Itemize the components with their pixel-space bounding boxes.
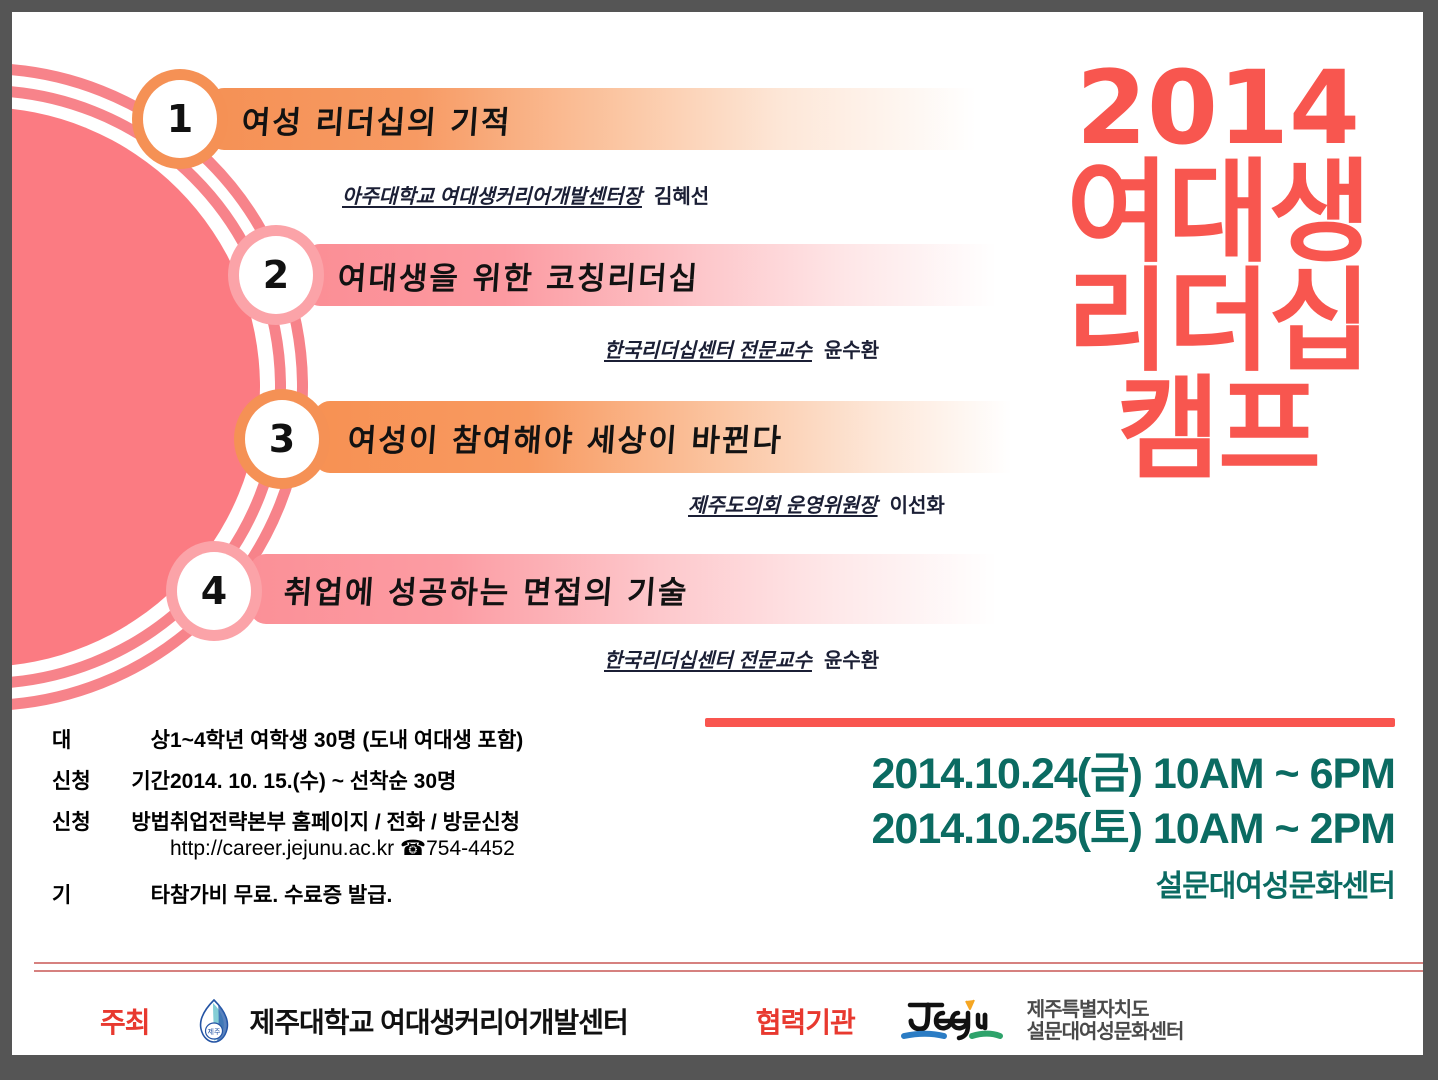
session-title-bar: 여성 리더십의 기적	[208, 88, 1008, 150]
session-title: 취업에 성공하는 면접의 기술	[248, 567, 690, 612]
info-row: 신청 방법 취업전략본부 홈페이지 / 전화 / 방문신청 http://car…	[52, 806, 692, 861]
session-speaker-name: 윤수환	[824, 650, 879, 672]
jejunu-logo-icon: 제주	[192, 997, 236, 1045]
footer: 주최 제주 제주대학교 여대생커리어개발센터 협력기관	[12, 990, 1423, 1052]
session-number-badge: 3	[245, 400, 319, 478]
poster-canvas: 2014 여대생 리더십 캠프 여성 리더십의 기적 1 아주대학교 여대생커리…	[0, 0, 1438, 1080]
session-speaker: 아주대학교 여대생커리어개발센터장김혜선	[342, 180, 709, 209]
session-title-bar: 취업에 성공하는 면접의 기술	[250, 554, 1020, 624]
info-value: 1~4학년 여학생 30명 (도내 여대생 포함)	[170, 724, 523, 754]
info-value: 참가비 무료. 수료증 발급.	[170, 879, 392, 909]
info-value: 취업전략본부 홈페이지 / 전화 / 방문신청 http://career.je…	[170, 806, 520, 861]
info-value-contact: http://career.jejunu.ac.kr ☎754-4452	[170, 836, 520, 861]
info-label-part-b: 기간	[131, 765, 170, 795]
info-label-part-b: 방법	[131, 806, 170, 861]
session-affiliation: 아주대학교 여대생커리어개발센터장	[342, 186, 642, 208]
info-label-part-b: 타	[151, 879, 170, 909]
info-value: 2014. 10. 15.(수) ~ 선착순 30명	[170, 765, 456, 795]
session-title: 여성 리더십의 기적	[206, 97, 513, 142]
footer-divider-bottom	[34, 970, 1423, 972]
session-speaker-name: 이선화	[890, 495, 945, 517]
footer-divider-top	[34, 962, 1423, 964]
session-affiliation: 한국리더십센터 전문교수	[604, 650, 812, 672]
title-line-2: 리더십	[1023, 268, 1413, 377]
session-title-bar: 여대생을 위한 코칭리더십	[304, 244, 1018, 306]
session-number-badge: 1	[143, 80, 217, 158]
svg-text:제주: 제주	[207, 1028, 220, 1036]
host-tag: 주최	[100, 1001, 150, 1041]
info-block: 대 상 1~4학년 여학생 30명 (도내 여대생 포함) 신청 기간 2014…	[52, 724, 692, 920]
session-title-bar: 여성이 참여해야 세상이 바뀐다	[314, 401, 1026, 473]
session-number-badge: 2	[239, 236, 313, 314]
schedule-day-1: 2014.10.24(금) 10AM ~ 6PM	[705, 747, 1395, 802]
title-line-1: 여대생	[1023, 159, 1413, 268]
session-number-badge: 4	[177, 552, 251, 630]
partner-name-top: 제주특별자치도	[1027, 999, 1184, 1021]
title-line-3: 캠프	[1023, 376, 1413, 485]
host-name: 제주대학교 여대생커리어개발센터	[250, 1001, 628, 1041]
venue-name: 설문대여성문화센터	[705, 861, 1395, 905]
page-title: 2014 여대생 리더십 캠프	[1023, 60, 1413, 485]
session-title: 여대생을 위한 코칭리더십	[302, 253, 700, 298]
info-row: 대 상 1~4학년 여학생 30명 (도내 여대생 포함)	[52, 724, 692, 754]
info-label-part-a: 기	[52, 879, 71, 909]
info-row: 기 타 참가비 무료. 수료증 발급.	[52, 879, 692, 909]
info-value-main: 취업전략본부 홈페이지 / 전화 / 방문신청	[170, 811, 520, 834]
session-title: 여성이 참여해야 세상이 바뀐다	[312, 415, 784, 460]
jeju-brand-logo-icon	[893, 995, 1013, 1047]
session-affiliation: 한국리더십센터 전문교수	[604, 340, 812, 362]
info-label: 신청 기간	[52, 765, 170, 795]
title-year: 2014	[1023, 60, 1413, 159]
info-label: 대 상	[52, 724, 170, 754]
info-label-part-a: 신청	[52, 765, 91, 795]
info-row: 신청 기간 2014. 10. 15.(수) ~ 선착순 30명	[52, 765, 692, 795]
session-speaker-name: 윤수환	[824, 340, 879, 362]
session-speaker-name: 김혜선	[654, 186, 709, 208]
session-list: 여성 리더십의 기적 1 아주대학교 여대생커리어개발센터장김혜선 여대생을 위…	[12, 12, 1022, 692]
schedule-divider	[705, 718, 1395, 727]
session-speaker: 제주도의회 운영위원장이선화	[688, 489, 945, 518]
info-label-part-b: 상	[151, 724, 170, 754]
session-speaker: 한국리더십센터 전문교수윤수환	[604, 644, 879, 673]
partner-tag: 협력기관	[756, 1001, 855, 1041]
schedule-block: 2014.10.24(금) 10AM ~ 6PM 2014.10.25(토) 1…	[705, 718, 1395, 905]
session-affiliation: 제주도의회 운영위원장	[688, 495, 878, 517]
info-label-part-a: 대	[52, 724, 71, 754]
session-speaker: 한국리더십센터 전문교수윤수환	[604, 334, 879, 363]
host-group: 주최 제주 제주대학교 여대생커리어개발센터	[100, 997, 628, 1045]
partner-group: 협력기관 제주특별자치	[756, 995, 1184, 1047]
info-label-part-a: 신청	[52, 806, 91, 861]
info-label: 기 타	[52, 879, 170, 909]
poster-page: 2014 여대생 리더십 캠프 여성 리더십의 기적 1 아주대학교 여대생커리…	[12, 12, 1423, 1055]
schedule-day-2: 2014.10.25(토) 10AM ~ 2PM	[705, 802, 1395, 857]
info-label: 신청 방법	[52, 806, 170, 861]
partner-name-bottom: 설문대여성문화센터	[1027, 1021, 1184, 1043]
partner-name-block: 제주특별자치도 설문대여성문화센터	[1027, 999, 1184, 1044]
